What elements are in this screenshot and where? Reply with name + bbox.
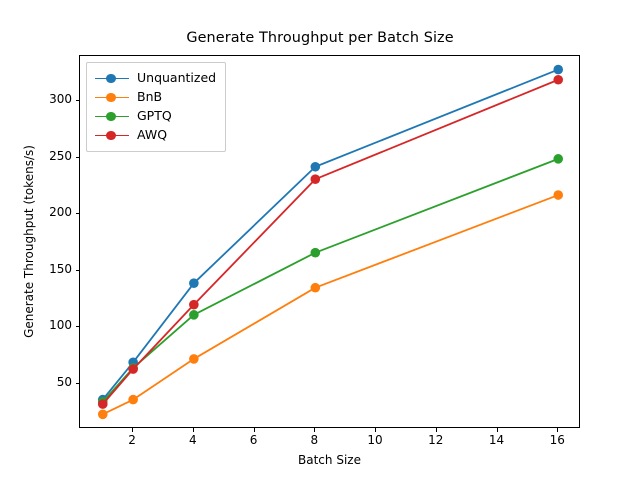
y-tick-label: 200 — [28, 205, 72, 219]
data-point — [189, 300, 199, 310]
x-tick-label: 12 — [416, 433, 456, 447]
y-tick-label: 250 — [28, 149, 72, 163]
y-tick-label: 150 — [28, 262, 72, 276]
data-point — [128, 395, 138, 405]
y-tick-mark — [76, 157, 80, 158]
data-point — [311, 162, 321, 172]
x-tick-label: 16 — [537, 433, 577, 447]
y-tick-label: 300 — [28, 92, 72, 106]
data-point — [98, 399, 108, 409]
x-tick-mark — [132, 428, 133, 432]
y-tick-mark — [76, 213, 80, 214]
x-tick-mark — [557, 428, 558, 432]
chart-legend: UnquantizedBnBGPTQAWQ — [86, 62, 226, 152]
legend-marker-icon — [95, 72, 129, 86]
chart-figure: Generate Throughput per Batch Size Batch… — [0, 0, 640, 480]
y-tick-label: 100 — [28, 318, 72, 332]
data-point — [189, 354, 199, 364]
data-point — [553, 65, 563, 75]
legend-marker-icon — [95, 110, 129, 124]
legend-item-unquantized: Unquantized — [95, 69, 216, 88]
legend-marker-icon — [95, 129, 129, 143]
legend-marker-icon — [95, 91, 129, 105]
data-point — [189, 278, 199, 288]
data-point — [553, 190, 563, 200]
x-tick-label: 10 — [355, 433, 395, 447]
x-tick-label: 4 — [173, 433, 213, 447]
legend-label: AWQ — [137, 129, 167, 142]
x-tick-mark — [254, 428, 255, 432]
data-point — [311, 174, 321, 184]
series-bnb — [98, 190, 563, 419]
x-tick-label: 14 — [477, 433, 517, 447]
series-line — [103, 195, 558, 414]
legend-label: GPTQ — [137, 110, 172, 123]
data-point — [553, 154, 563, 164]
data-point — [311, 283, 321, 293]
y-tick-mark — [76, 326, 80, 327]
data-point — [98, 410, 108, 420]
x-tick-mark — [193, 428, 194, 432]
legend-item-awq: AWQ — [95, 126, 216, 145]
x-tick-mark — [436, 428, 437, 432]
x-tick-mark — [314, 428, 315, 432]
chart-title: Generate Throughput per Batch Size — [0, 30, 640, 46]
x-tick-mark — [375, 428, 376, 432]
data-point — [128, 364, 138, 374]
data-point — [189, 310, 199, 320]
legend-label: BnB — [137, 91, 162, 104]
x-tick-label: 8 — [294, 433, 334, 447]
x-tick-label: 6 — [234, 433, 274, 447]
series-line — [103, 159, 558, 402]
y-axis-label: Generate Throughput (tokens/s) — [22, 55, 36, 428]
x-axis-label: Batch Size — [79, 453, 580, 467]
y-tick-mark — [76, 270, 80, 271]
legend-item-bnb: BnB — [95, 88, 216, 107]
series-gptq — [98, 154, 563, 407]
legend-item-gptq: GPTQ — [95, 107, 216, 126]
data-point — [553, 75, 563, 85]
y-tick-mark — [76, 383, 80, 384]
legend-label: Unquantized — [137, 72, 216, 85]
y-tick-label: 50 — [28, 375, 72, 389]
y-tick-mark — [76, 100, 80, 101]
data-point — [311, 248, 321, 258]
x-tick-label: 2 — [112, 433, 152, 447]
x-tick-mark — [497, 428, 498, 432]
